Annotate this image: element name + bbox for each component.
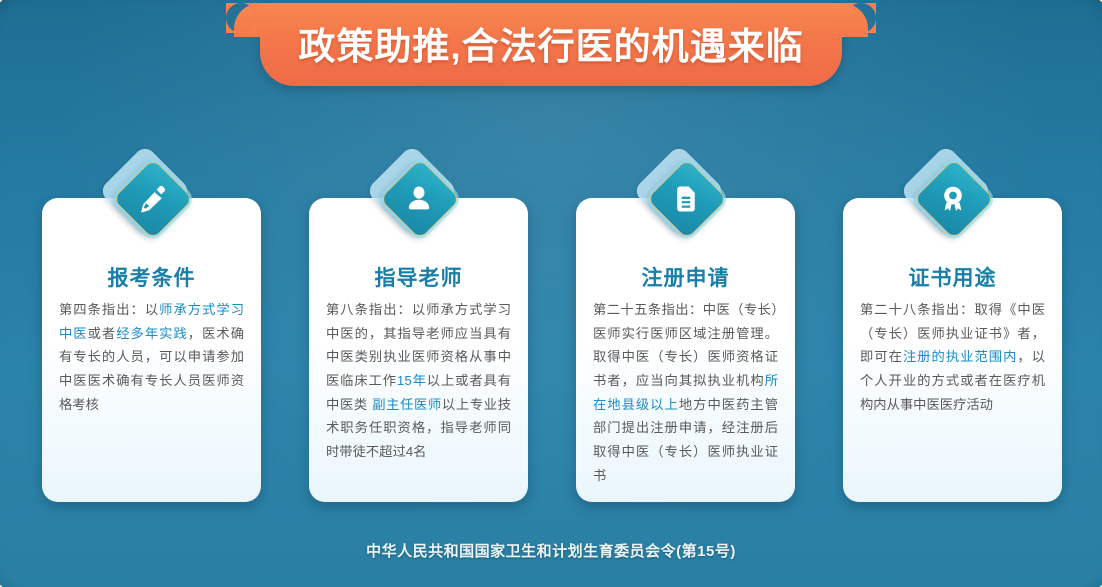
award-medal-icon (906, 151, 1000, 245)
card-body: 第二十八条指出：取得《中医（专长）医师执业证书》者，即可在注册的执业范围内，以个… (843, 298, 1062, 416)
card-title: 报考条件 (42, 262, 261, 292)
footer-source-note: 中华人民共和国国家卫生和计划生育委员会令(第15号) (0, 540, 1102, 561)
body-text: 或者 (88, 326, 117, 341)
body-text: 第二十五条指出：中医（专长）医师实行医师区域注册管理。取得中医（专长）医师资格证… (593, 302, 778, 388)
card-row: 报考条件 第四条指出：以师承方式学习中医或者经多年实践，医术确有专长的人员，可以… (42, 198, 1062, 502)
body-text: 第四条指出：以 (59, 302, 159, 317)
info-card-3[interactable]: 注册申请 第二十五条指出：中医（专长）医师实行医师区域注册管理。取得中医（专长）… (576, 198, 795, 502)
card-body: 第四条指出：以师承方式学习中医或者经多年实践，医术确有专长的人员，可以申请参加中… (42, 298, 261, 416)
card-body: 第八条指出：以师承方式学习中医的，其指导老师应当具有中医类别执业医师资格从事中医… (309, 298, 528, 464)
poster-title: 政策助推,合法行医的机遇来临 (298, 16, 803, 70)
person-glyph (372, 151, 466, 245)
info-card-1[interactable]: 报考条件 第四条指出：以师承方式学习中医或者经多年实践，医术确有专长的人员，可以… (42, 198, 261, 502)
pen-nib-glyph (105, 151, 199, 245)
info-card-2[interactable]: 指导老师 第八条指出：以师承方式学习中医的，其指导老师应当具有中医类别执业医师资… (309, 198, 528, 502)
card-title: 注册申请 (576, 262, 795, 292)
document-icon (639, 151, 733, 245)
infographic-poster: 政策助推,合法行医的机遇来临 报考条件 第四条指出：以师承方式学习中医或者经多年… (0, 0, 1102, 587)
banner-notch-left-icon (226, 3, 256, 33)
title-banner: 政策助推,合法行医的机遇来临 (260, 3, 841, 86)
pen-nib-icon (105, 151, 199, 245)
highlighted-text: 注册的执业范围内 (903, 349, 1017, 364)
card-title: 证书用途 (843, 262, 1062, 292)
document-glyph (639, 151, 733, 245)
card-title: 指导老师 (309, 262, 528, 292)
highlighted-text: 经多年实践 (116, 326, 188, 341)
info-card-4[interactable]: 证书用途 第二十八条指出：取得《中医（专长）医师执业证书》者，即可在注册的执业范… (843, 198, 1062, 502)
card-body: 第二十五条指出：中医（专长）医师实行医师区域注册管理。取得中医（专长）医师资格证… (576, 298, 795, 487)
title-banner-wrap: 政策助推,合法行医的机遇来临 (0, 0, 1102, 92)
highlighted-text: 副主任医师 (372, 397, 442, 412)
banner-notch-right-icon (846, 3, 876, 33)
person-icon (372, 151, 466, 245)
award-medal-glyph (906, 151, 1000, 245)
highlighted-text: 15年 (397, 373, 427, 388)
